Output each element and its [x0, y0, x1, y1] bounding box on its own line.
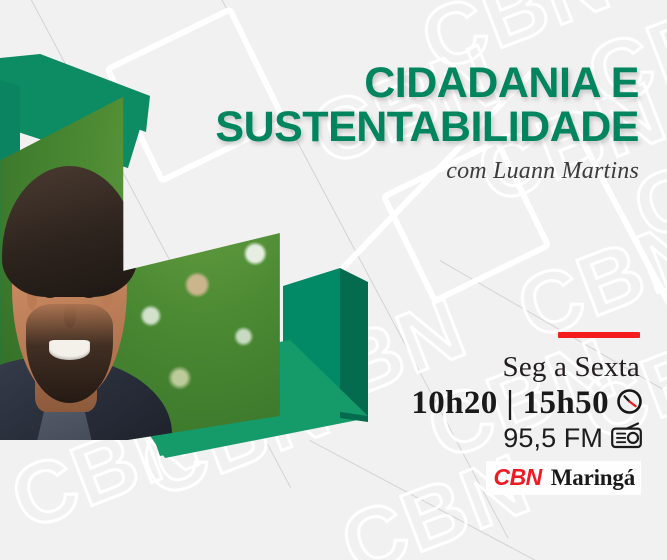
radio-program-poster: CBNCBNCBNCBNCBNCBNCBNCBNCBNCBNCBNCBNCBNC…	[0, 0, 667, 560]
radio-icon	[610, 422, 643, 454]
program-host-subtitle: com Luann Martins	[169, 158, 639, 185]
station-logo-brand: CBN	[493, 464, 541, 491]
photo-hair	[2, 166, 138, 296]
program-title-line-1: CIDADANIA E	[364, 59, 639, 107]
radio-frequency: 95,5 FM	[503, 423, 603, 454]
photo-smile	[49, 340, 90, 360]
station-logo: CBN Maringá	[486, 461, 641, 495]
program-title: CIDADANIA E SUSTENTABILIDADE	[169, 62, 639, 150]
schedule-times: 10h20 | 15h50	[411, 385, 609, 422]
program-title-line-2: SUSTENTABILIDADE	[169, 106, 639, 150]
clock-icon	[616, 388, 643, 420]
frequency-row: 95,5 FM	[193, 422, 643, 454]
station-logo-city: Maringá	[551, 465, 635, 491]
schedule-days: Seg a Sexta	[220, 351, 640, 384]
schedule-times-row: 10h20 | 15h50	[193, 385, 643, 422]
red-accent-bar	[558, 332, 640, 338]
